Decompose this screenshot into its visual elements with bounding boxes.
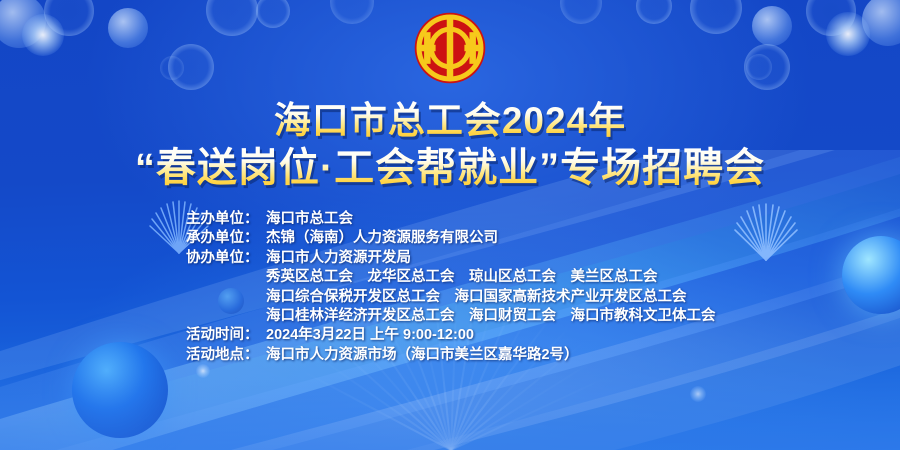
info-label: 活动地点： bbox=[186, 346, 266, 365]
info-label: 承办单位： bbox=[186, 229, 266, 248]
light-flare bbox=[690, 386, 706, 402]
info-value: 秀英区总工会 龙华区总工会 琼山区总工会 美兰区总工会 bbox=[266, 268, 786, 287]
info-row: 活动地点： 海口市人力资源市场（海口市美兰区嘉华路2号） bbox=[186, 346, 786, 365]
info-row: 承办单位： 杰锦（海南）人力资源服务有限公司 bbox=[186, 229, 786, 248]
glowing-sphere-right bbox=[842, 236, 900, 314]
info-block: 主办单位： 海口市总工会 承办单位： 杰锦（海南）人力资源服务有限公司 协办单位… bbox=[186, 210, 786, 365]
info-row: 协办单位： 海口市人力资源开发局 bbox=[186, 249, 786, 268]
info-value: 海口市人力资源市场（海口市美兰区嘉华路2号） bbox=[266, 346, 786, 365]
info-value: 海口桂林洋经济开发区总工会 海口财贸工会 海口市教科文卫体工会 bbox=[266, 307, 786, 326]
info-row: 秀英区总工会 龙华区总工会 琼山区总工会 美兰区总工会 bbox=[186, 268, 786, 287]
info-row: 海口综合保税开发区总工会 海口国家高新技术产业开发区总工会 bbox=[186, 288, 786, 307]
glowing-sphere-left bbox=[72, 342, 168, 438]
title-block: 海口市总工会2024年 “春送岗位·工会帮就业”专场招聘会 bbox=[0, 100, 900, 192]
info-label: 活动时间： bbox=[186, 326, 266, 345]
light-flare bbox=[196, 364, 210, 378]
info-value: 杰锦（海南）人力资源服务有限公司 bbox=[266, 229, 786, 248]
info-row: 主办单位： 海口市总工会 bbox=[186, 210, 786, 229]
info-value: 2024年3月22日 上午 9:00-12:00 bbox=[266, 326, 786, 345]
info-row: 海口桂林洋经济开发区总工会 海口财贸工会 海口市教科文卫体工会 bbox=[186, 307, 786, 326]
acftu-union-emblem-icon bbox=[414, 12, 486, 84]
info-value: 海口市人力资源开发局 bbox=[266, 249, 786, 268]
title-line-1: 海口市总工会2024年 bbox=[0, 100, 900, 142]
poster-banner: 海口市总工会2024年 “春送岗位·工会帮就业”专场招聘会 主办单位： 海口市总… bbox=[0, 0, 900, 450]
info-value: 海口市总工会 bbox=[266, 210, 786, 229]
title-line-2: “春送岗位·工会帮就业”专场招聘会 bbox=[0, 146, 900, 192]
info-label: 主办单位： bbox=[186, 210, 266, 229]
info-value: 海口综合保税开发区总工会 海口国家高新技术产业开发区总工会 bbox=[266, 288, 786, 307]
info-row: 活动时间： 2024年3月22日 上午 9:00-12:00 bbox=[186, 326, 786, 345]
info-label: 协办单位： bbox=[186, 249, 266, 268]
